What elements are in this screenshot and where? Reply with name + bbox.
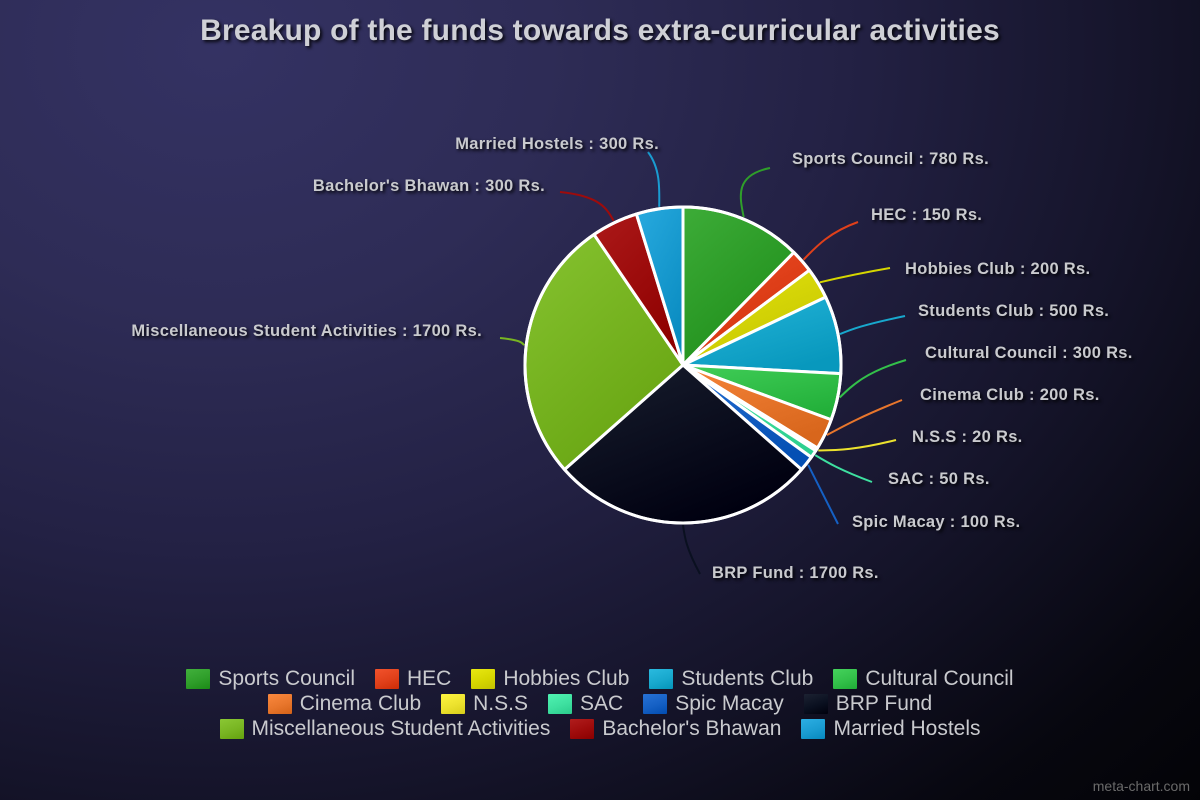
callout-sac: SAC : 50 Rs.	[888, 470, 990, 489]
callout-sports-council: Sports Council : 780 Rs.	[792, 150, 989, 169]
watermark: meta-chart.com	[1093, 778, 1190, 794]
legend-row: Miscellaneous Student ActivitiesBachelor…	[210, 718, 991, 739]
legend-label: BRP Fund	[836, 693, 933, 714]
legend-item-spic-macay[interactable]: Spic Macay	[643, 693, 784, 714]
legend-swatch	[643, 694, 667, 714]
callout-cinema-club: Cinema Club : 200 Rs.	[920, 386, 1100, 405]
legend-swatch	[220, 719, 244, 739]
legend-label: Cinema Club	[300, 693, 421, 714]
callout-misc-activities: Miscellaneous Student Activities : 1700 …	[131, 322, 482, 341]
legend-label: Bachelor's Bhawan	[602, 718, 781, 739]
legend-item-sports-council[interactable]: Sports Council	[186, 668, 355, 689]
legend-item-hec[interactable]: HEC	[375, 668, 451, 689]
legend-swatch	[375, 669, 399, 689]
legend-label: N.S.S	[473, 693, 528, 714]
legend-swatch	[833, 669, 857, 689]
legend-row: Sports CouncilHECHobbies ClubStudents Cl…	[176, 668, 1023, 689]
callout-brp-fund: BRP Fund : 1700 Rs.	[712, 564, 879, 583]
legend-item-students-club[interactable]: Students Club	[649, 668, 813, 689]
legend-label: Sports Council	[218, 668, 355, 689]
chart-canvas: Breakup of the funds towards extra-curri…	[0, 0, 1200, 800]
legend-label: Miscellaneous Student Activities	[252, 718, 551, 739]
callout-married-hostels: Married Hostels : 300 Rs.	[455, 135, 659, 154]
legend-label: Hobbies Club	[503, 668, 629, 689]
callout-bachelors-bhawan: Bachelor's Bhawan : 300 Rs.	[313, 177, 545, 196]
legend-item-married-hostels[interactable]: Married Hostels	[801, 718, 980, 739]
legend: Sports CouncilHECHobbies ClubStudents Cl…	[0, 668, 1200, 739]
callout-spic-macay: Spic Macay : 100 Rs.	[852, 513, 1020, 532]
legend-item-sac[interactable]: SAC	[548, 693, 623, 714]
legend-item-brp-fund[interactable]: BRP Fund	[804, 693, 933, 714]
callout-hobbies-club: Hobbies Club : 200 Rs.	[905, 260, 1090, 279]
legend-label: Married Hostels	[833, 718, 980, 739]
legend-row: Cinema ClubN.S.SSACSpic MacayBRP Fund	[258, 693, 942, 714]
legend-swatch	[186, 669, 210, 689]
callout-students-club: Students Club : 500 Rs.	[918, 302, 1109, 321]
legend-label: Cultural Council	[865, 668, 1013, 689]
legend-item-hobbies-club[interactable]: Hobbies Club	[471, 668, 629, 689]
legend-label: Students Club	[681, 668, 813, 689]
legend-swatch	[441, 694, 465, 714]
legend-swatch	[570, 719, 594, 739]
legend-swatch	[471, 669, 495, 689]
legend-item-cultural-council[interactable]: Cultural Council	[833, 668, 1013, 689]
legend-label: HEC	[407, 668, 451, 689]
legend-item-miscellaneous-student-activities[interactable]: Miscellaneous Student Activities	[220, 718, 551, 739]
callout-cultural-council: Cultural Council : 300 Rs.	[925, 344, 1133, 363]
callout-hec: HEC : 150 Rs.	[871, 206, 982, 225]
legend-swatch	[804, 694, 828, 714]
legend-swatch	[268, 694, 292, 714]
legend-item-cinema-club[interactable]: Cinema Club	[268, 693, 421, 714]
legend-label: Spic Macay	[675, 693, 784, 714]
callout-nss: N.S.S : 20 Rs.	[912, 428, 1023, 447]
legend-item-bachelor-s-bhawan[interactable]: Bachelor's Bhawan	[570, 718, 781, 739]
legend-swatch	[548, 694, 572, 714]
legend-item-n-s-s[interactable]: N.S.S	[441, 693, 528, 714]
legend-swatch	[801, 719, 825, 739]
legend-label: SAC	[580, 693, 623, 714]
legend-swatch	[649, 669, 673, 689]
